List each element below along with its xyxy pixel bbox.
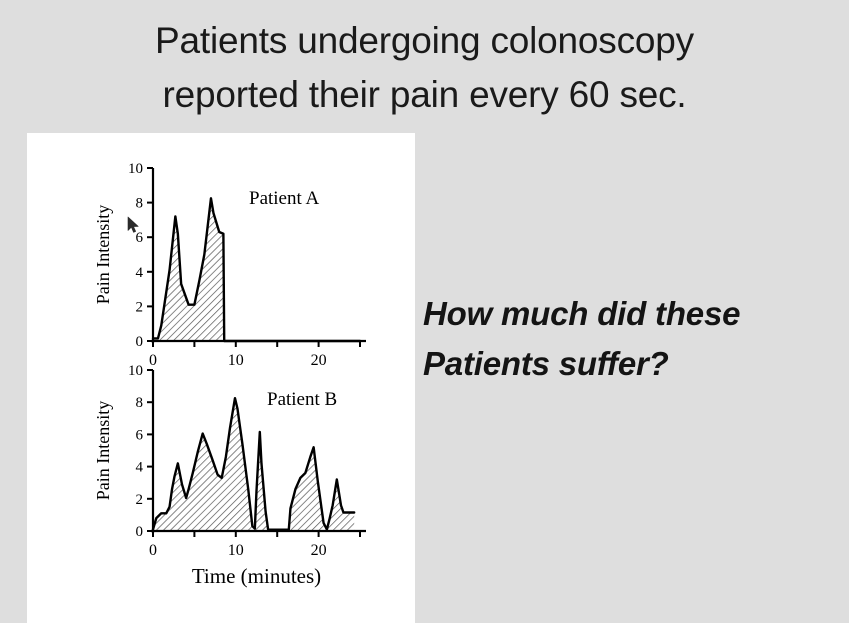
area-fill bbox=[153, 198, 360, 341]
y-tick-label: 2 bbox=[136, 299, 144, 315]
x-tick-label: 20 bbox=[311, 542, 327, 559]
question-line-1: How much did these bbox=[423, 289, 823, 339]
y-tick-label: 10 bbox=[128, 161, 143, 177]
y-tick-label: 4 bbox=[136, 265, 144, 281]
figure-panel: 024681001020Pain IntensityPatient A 0246… bbox=[27, 133, 415, 623]
chart-patient-a: 024681001020Pain IntensityPatient A bbox=[27, 133, 415, 365]
y-axis-label: Pain Intensity bbox=[93, 401, 113, 501]
y-tick-label: 4 bbox=[136, 460, 144, 476]
page-title: Patients undergoing colonoscopy reported… bbox=[0, 14, 849, 121]
slide-canvas: Patients undergoing colonoscopy reported… bbox=[0, 0, 849, 623]
y-tick-label: 2 bbox=[136, 492, 144, 508]
chart-title: Patient A bbox=[249, 188, 319, 209]
title-line-1: Patients undergoing colonoscopy bbox=[0, 14, 849, 68]
question-text: How much did these Patients suffer? bbox=[423, 289, 823, 389]
chart-title: Patient B bbox=[267, 389, 337, 410]
y-tick-label: 0 bbox=[136, 524, 144, 540]
patient-b-plot: 024681001020Pain IntensityTime (minutes)… bbox=[27, 355, 415, 623]
y-tick-label: 0 bbox=[136, 334, 144, 350]
y-tick-label: 8 bbox=[136, 196, 144, 212]
question-line-2: Patients suffer? bbox=[423, 339, 823, 389]
x-tick-label: 0 bbox=[149, 542, 157, 559]
chart-patient-b: 024681001020Pain IntensityTime (minutes)… bbox=[27, 355, 415, 623]
y-axis-label: Pain Intensity bbox=[93, 205, 113, 305]
x-axis-label: Time (minutes) bbox=[192, 564, 321, 588]
y-tick-label: 6 bbox=[136, 427, 144, 443]
y-tick-label: 8 bbox=[136, 395, 144, 411]
patient-a-plot: 024681001020Pain IntensityPatient A bbox=[27, 133, 415, 365]
y-tick-label: 10 bbox=[128, 363, 143, 379]
mouse-pointer-icon bbox=[127, 216, 141, 234]
area-fill bbox=[153, 398, 354, 531]
title-line-2: reported their pain every 60 sec. bbox=[0, 68, 849, 122]
x-tick-label: 10 bbox=[228, 542, 244, 559]
